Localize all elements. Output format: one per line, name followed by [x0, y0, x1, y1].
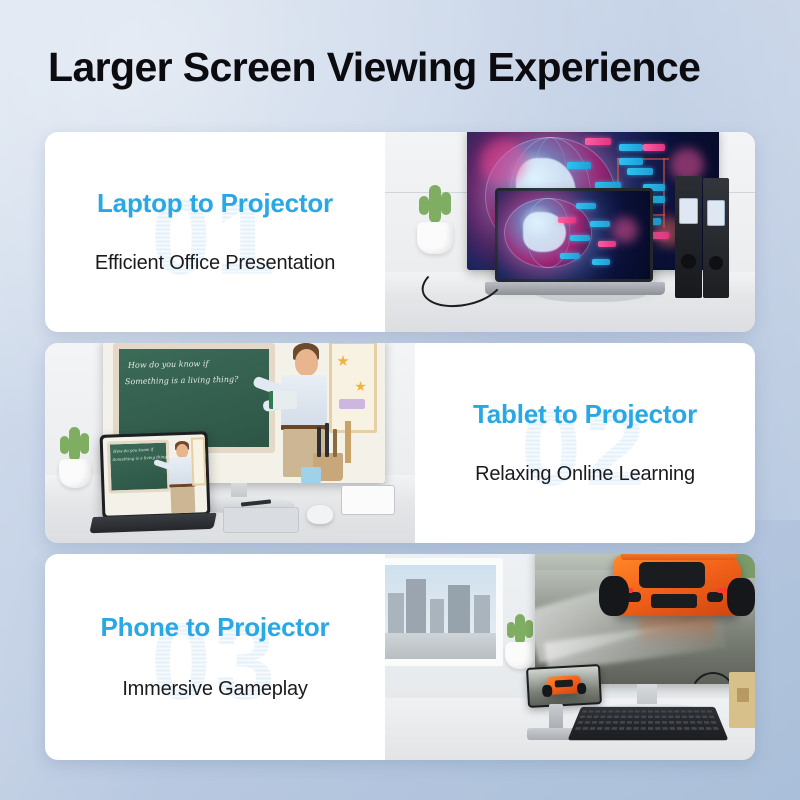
ruler: [333, 429, 337, 457]
window-ledge: [385, 633, 496, 659]
network-node: [590, 221, 610, 227]
screen-glow: [612, 217, 638, 243]
paper-tray: [341, 485, 395, 515]
race-car-wheel: [577, 683, 587, 694]
card-headline: Phone to Projector: [45, 612, 385, 643]
card-headline: Tablet to Projector: [415, 399, 755, 430]
card-photo-laptop-to-projector: [385, 132, 755, 332]
network-node: [643, 144, 665, 151]
binder-ring: [709, 256, 723, 270]
card-text-pane: 02 Tablet to Projector Relaxing Online L…: [415, 343, 755, 543]
card-subline: Relaxing Online Learning: [415, 463, 755, 486]
cactus-plant: [69, 427, 80, 461]
network-node: [570, 235, 590, 241]
building: [388, 593, 404, 633]
teacher-pants: [170, 487, 195, 514]
tablet-blackboard-line-1: How do you know if: [113, 447, 153, 455]
blackboard-line-2: Something is a living thing?: [125, 374, 239, 388]
card-subline: Efficient Office Presentation: [45, 252, 385, 275]
binder-label: [707, 200, 725, 226]
card-text-pane: 01 Laptop to Projector Efficient Office …: [45, 132, 385, 332]
cactus-arm-right: [80, 433, 89, 454]
page-title: Larger Screen Viewing Experience: [48, 44, 700, 91]
binder-right: [703, 178, 729, 298]
mouse: [307, 505, 333, 524]
classroom-poster: [329, 343, 377, 433]
building: [430, 599, 444, 633]
race-car-wing: [621, 554, 737, 560]
plant-pot: [59, 459, 91, 488]
monitor-screen: [535, 554, 755, 684]
network-node: [592, 259, 610, 265]
plant-pot: [417, 222, 453, 254]
network-node: [567, 162, 591, 169]
card-headline: Laptop to Projector: [45, 188, 385, 219]
cactus-plant: [429, 185, 441, 223]
cactus-plant: [515, 614, 525, 644]
plant-pot: [505, 642, 535, 669]
phone-stand: [549, 704, 563, 730]
laptop-display: [498, 191, 650, 279]
race-car-wheel: [727, 578, 755, 616]
network-link: [663, 158, 665, 228]
binder-label: [679, 198, 698, 224]
keyboard-row: [577, 721, 718, 723]
teacher-book: [269, 391, 297, 409]
laptop-screen: [495, 188, 653, 282]
race-car-window: [639, 562, 705, 588]
cork-note: [737, 688, 749, 702]
network-node: [560, 253, 580, 259]
teacher-head: [295, 349, 318, 376]
card-photo-tablet-to-projector: How do you know if Something is a living…: [45, 343, 415, 543]
race-car-diffuser: [651, 594, 697, 608]
race-car-wheel: [599, 576, 629, 616]
feature-card-tablet[interactable]: 02 Tablet to Projector Relaxing Online L…: [45, 343, 755, 543]
poster-note: [339, 399, 365, 409]
external-monitor: [535, 554, 755, 684]
binder-ring: [681, 254, 696, 269]
pen: [325, 423, 329, 457]
cactus-arm-left: [419, 196, 429, 215]
laptop-keyboard-base: [485, 282, 665, 295]
network-node: [598, 241, 616, 247]
tablet-poster: [191, 437, 207, 485]
building: [406, 579, 426, 633]
tablet-display: How do you know if Something is a living…: [103, 434, 208, 516]
cactus-arm-right: [525, 620, 533, 638]
network-node: [585, 138, 611, 145]
binder-left: [675, 176, 702, 298]
race-car-vent: [707, 592, 723, 602]
network-node: [576, 203, 596, 209]
building: [448, 585, 470, 633]
blackboard-line-1: How do you know if: [128, 358, 209, 372]
car-reflection: [639, 616, 715, 648]
window: [385, 558, 503, 666]
building: [474, 595, 490, 633]
race-car-window: [555, 680, 573, 688]
eraser: [301, 467, 321, 483]
phone-display: [528, 666, 600, 706]
cactus-arm-left: [507, 622, 515, 638]
network-node: [558, 217, 576, 223]
keyboard-row: [582, 710, 715, 712]
pen: [317, 427, 321, 457]
network-node: [619, 144, 643, 151]
keyboard-row: [580, 716, 717, 718]
phone-device: [526, 664, 602, 708]
card-subline: Immersive Gameplay: [45, 678, 385, 701]
feature-card-laptop[interactable]: 01 Laptop to Projector Efficient Office …: [45, 132, 755, 332]
card-photo-phone-to-projector: [385, 554, 755, 760]
network-node: [619, 158, 643, 165]
tablet-device: How do you know if Something is a living…: [100, 431, 211, 519]
card-text-pane: 03 Phone to Projector Immersive Gameplay: [45, 554, 385, 760]
feature-card-phone[interactable]: 03 Phone to Projector Immersive Gameplay: [45, 554, 755, 760]
cactus-arm-left: [60, 436, 69, 454]
screen-glow: [480, 139, 526, 185]
notebook: [223, 507, 299, 533]
ruler: [345, 421, 351, 463]
keyboard-row: [575, 727, 721, 730]
network-node: [627, 168, 653, 175]
race-car-wheel: [542, 685, 553, 698]
cactus-arm-right: [441, 192, 451, 215]
